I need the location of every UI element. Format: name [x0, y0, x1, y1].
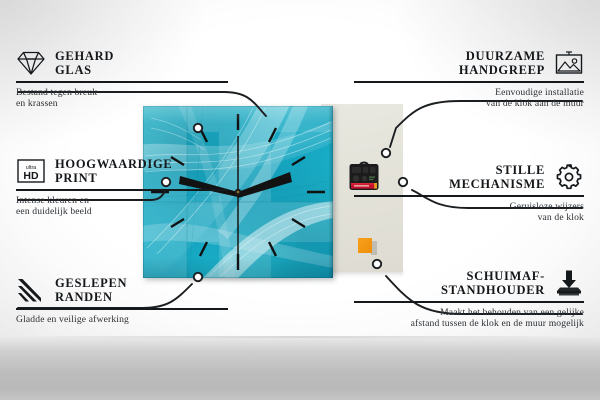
- feature-title: GESLEPEN RANDEN: [55, 276, 127, 305]
- picture-frame-icon: [554, 48, 584, 78]
- feature-title: GEHARD GLAS: [55, 49, 114, 78]
- infographic-scene: GEHARD GLAS Bestand tegen breuk en krass…: [0, 0, 600, 400]
- title-underline: [354, 301, 584, 303]
- gear-icon: [554, 162, 584, 192]
- diagonal-lines-icon: [16, 275, 46, 305]
- foam-spacer-pad: [358, 238, 372, 253]
- feature-subtitle: Maakt het behouden van een gelijke afsta…: [354, 307, 584, 330]
- feature-stille-mechanisme: STILLE MECHANISME Geruisloze wijzers van…: [354, 162, 584, 224]
- feature-title: STILLE MECHANISME: [449, 163, 545, 192]
- feature-gehard-glas: GEHARD GLAS Bestand tegen breuk en krass…: [16, 48, 246, 110]
- title-underline: [16, 308, 228, 310]
- feature-schuimaf-standhouder: SCHUIMAF- STANDHOUDER Maakt het behouden…: [354, 268, 584, 330]
- diamond-icon: [16, 48, 46, 78]
- feature-hoogwaardige-print: ultra HD HOOGWAARDIGE PRINT Intense kleu…: [16, 156, 246, 218]
- ultra-hd-icon: ultra HD: [16, 156, 46, 186]
- title-underline: [16, 189, 228, 191]
- feature-geslepen-randen: GESLEPEN RANDEN Gladde en veilige afwerk…: [16, 275, 246, 325]
- title-underline: [354, 81, 584, 83]
- down-arrow-pad-icon: [554, 268, 584, 298]
- floor-surface: [0, 338, 600, 400]
- feature-duurzame-handgreep: DUURZAME HANDGREEP Eenvoudige installati…: [354, 48, 584, 110]
- feature-subtitle: Gladde en veilige afwerking: [16, 314, 246, 326]
- feature-subtitle: Eenvoudige installatie van de klok aan d…: [354, 87, 584, 110]
- feature-title: DUURZAME HANDGREEP: [459, 49, 545, 78]
- feature-subtitle: Bestand tegen breuk en krassen: [16, 87, 246, 110]
- feature-title: SCHUIMAF- STANDHOUDER: [441, 269, 545, 298]
- feature-subtitle: Intense kleuren en een duidelijk beeld: [16, 195, 246, 218]
- feature-title: HOOGWAARDIGE PRINT: [55, 157, 172, 186]
- svg-text:HD: HD: [23, 170, 39, 182]
- title-underline: [16, 81, 228, 83]
- title-underline: [354, 195, 584, 197]
- feature-subtitle: Geruisloze wijzers van de klok: [354, 201, 584, 224]
